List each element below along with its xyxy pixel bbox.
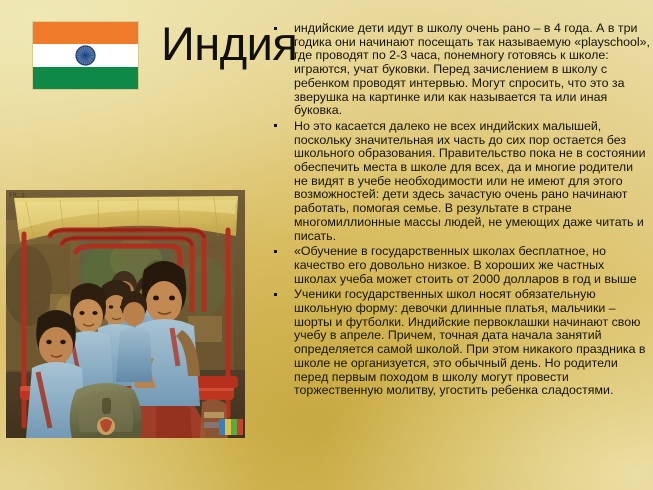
bullet-text: Ученики государственных школ носят обяза… [294, 287, 646, 397]
bullet-list-item: Но это касается далеко не всех индийских… [268, 120, 650, 243]
slide-body-text: индийские дети идут в школу очень рано –… [268, 22, 650, 400]
bullet-list-item: индийские дети идут в школу очень рано –… [268, 22, 650, 118]
ashoka-chakra-icon [75, 45, 96, 66]
flag-green-band [33, 67, 138, 89]
photo-image [6, 190, 245, 438]
presentation-slide: Индия [0, 0, 653, 490]
bullet-text: «Обучение в государственных школах беспл… [294, 244, 637, 285]
photo-indian-schoolchildren: FR.s [6, 190, 245, 438]
bullet-dot-icon [274, 124, 277, 127]
bullet-list-item: Ученики государственных школ носят обяза… [268, 288, 650, 398]
bullet-text: Но это касается далеко не всех индийских… [294, 119, 646, 243]
flag-of-india-icon [33, 22, 138, 89]
photo-corner-logo-icon [219, 419, 243, 435]
bullet-dot-icon [274, 27, 277, 30]
bullet-dot-icon [274, 250, 277, 253]
bullet-list-item: «Обучение в государственных школах беспл… [268, 245, 650, 286]
flag-saffron-band [33, 22, 138, 44]
bullet-text: индийские дети идут в школу очень рано –… [294, 21, 650, 117]
bullet-dot-icon [274, 293, 277, 296]
photo-watermark: FR.s [9, 192, 25, 199]
